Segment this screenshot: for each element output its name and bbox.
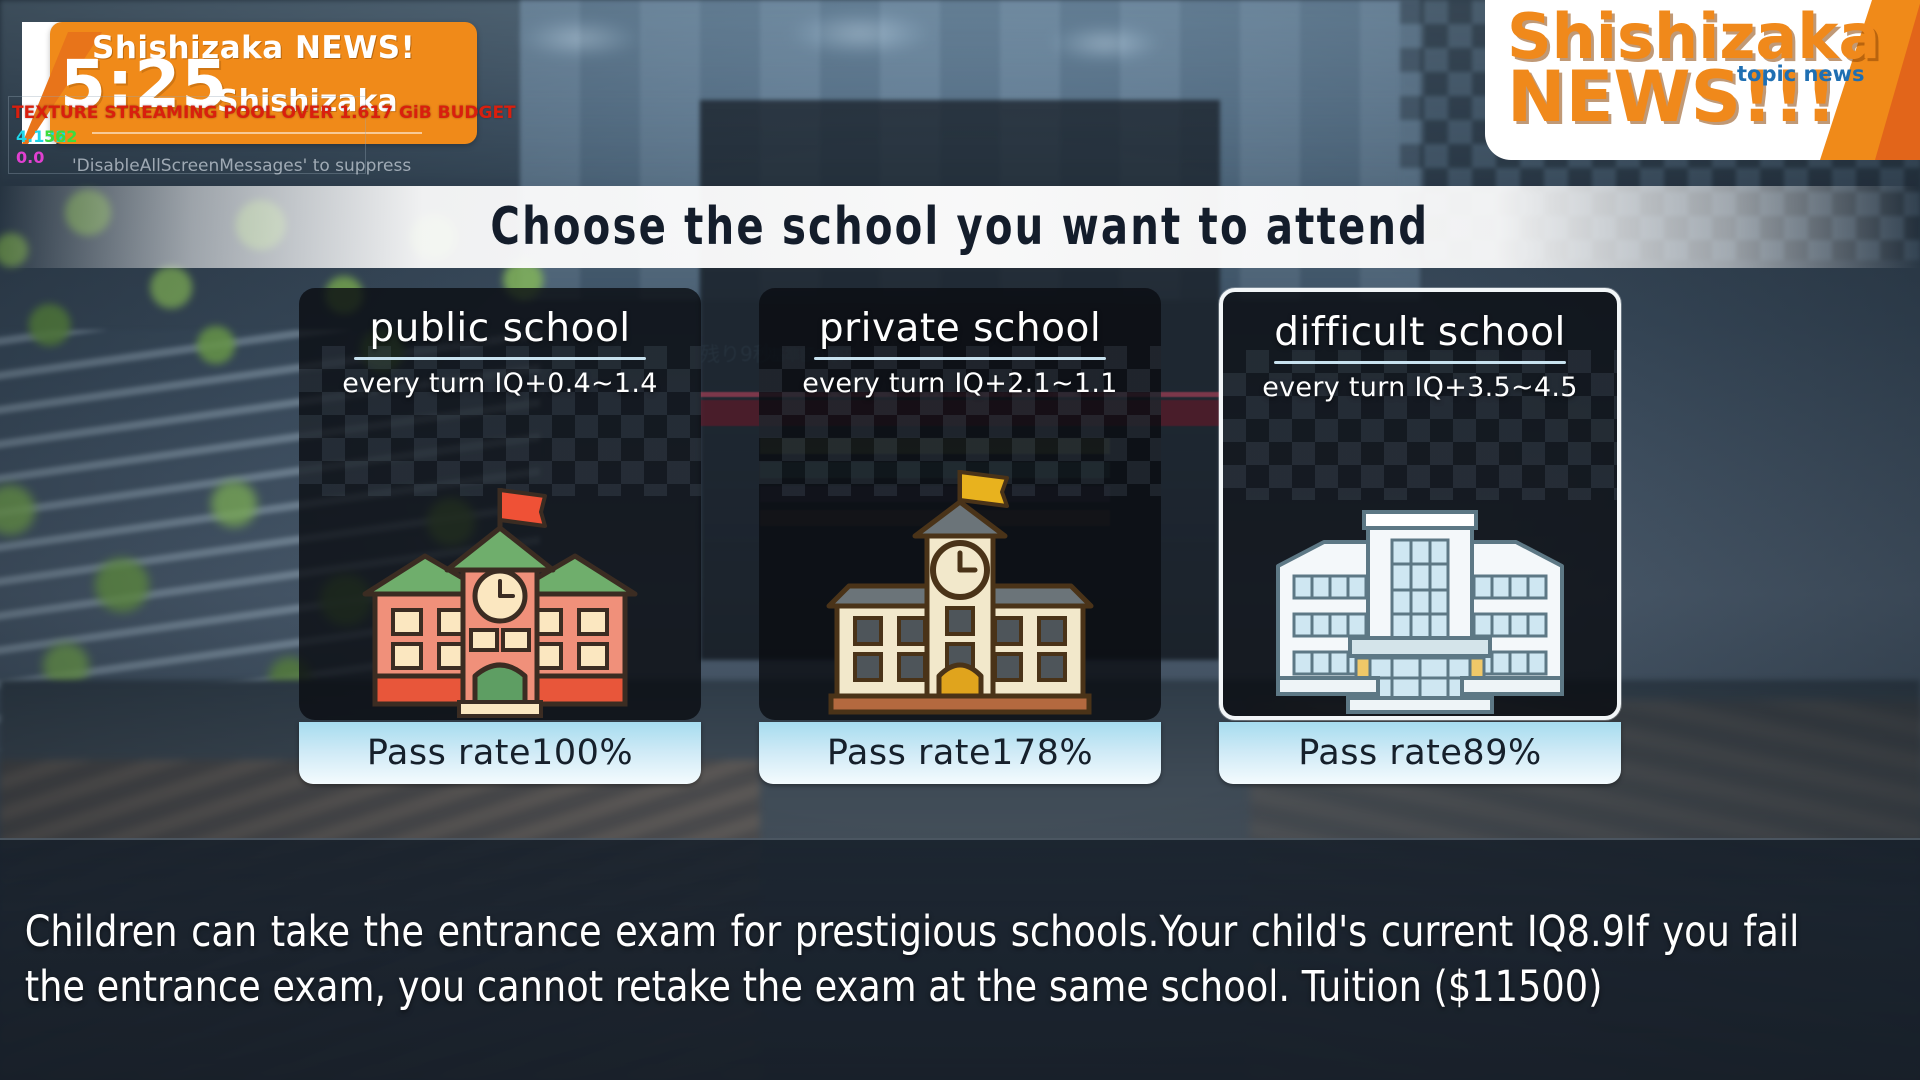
- school-card-effect: every turn IQ+2.1~1.1: [759, 368, 1161, 399]
- school-card-title: public school: [299, 306, 701, 351]
- school-pass-rate-footer: Pass rate178%: [759, 722, 1161, 784]
- page-title: Choose the school you want to attend: [491, 197, 1430, 257]
- school-classic-cream-icon: [759, 452, 1161, 720]
- school-pass-rate-label: Pass rate100%: [367, 733, 633, 773]
- news-banner: Shishizaka NEWS! 5:25 Shishizaka: [22, 22, 477, 144]
- school-card-divider: [354, 357, 646, 360]
- school-card-title: difficult school: [1223, 310, 1617, 355]
- news-banner-rule: [92, 132, 422, 134]
- shishizaka-news-logo: Shishizaka NEWS!!! topic news: [1465, 0, 1920, 160]
- school-pass-rate-footer: Pass rate100%: [299, 722, 701, 784]
- school-pass-rate-footer: Pass rate89%: [1219, 722, 1621, 784]
- school-pass-rate-label: Pass rate89%: [1298, 733, 1541, 773]
- school-choice-list: public school every turn IQ+0.4~1.4: [0, 288, 1920, 788]
- school-card-effect: every turn IQ+3.5~4.5: [1223, 372, 1617, 403]
- school-card-title: private school: [759, 306, 1161, 351]
- school-card-divider: [814, 357, 1106, 360]
- school-card-private[interactable]: private school every turn IQ+2.1~1.1: [759, 288, 1161, 784]
- news-banner-subtitle: Shishizaka: [217, 84, 398, 119]
- school-classic-red-icon: [299, 452, 701, 720]
- school-card-body[interactable]: public school every turn IQ+0.4~1.4: [299, 288, 701, 720]
- school-modern-glass-icon: [1223, 448, 1617, 716]
- description-panel: Children can take the entrance exam for …: [0, 838, 1920, 1080]
- school-pass-rate-label: Pass rate178%: [827, 733, 1093, 773]
- school-card-body[interactable]: difficult school every turn IQ+3.5~4.5: [1219, 288, 1621, 720]
- school-card-effect: every turn IQ+0.4~1.4: [299, 368, 701, 399]
- page-title-banner: Choose the school you want to attend: [0, 186, 1920, 268]
- school-card-difficult[interactable]: difficult school every turn IQ+3.5~4.5: [1219, 288, 1621, 784]
- news-banner-time: 5:25: [60, 52, 228, 118]
- school-card-body[interactable]: private school every turn IQ+2.1~1.1: [759, 288, 1161, 720]
- logo-topic-label: topic news: [1737, 62, 1865, 86]
- school-card-public[interactable]: public school every turn IQ+0.4~1.4: [299, 288, 701, 784]
- description-text: Children can take the entrance exam for …: [0, 905, 1824, 1015]
- school-card-divider: [1274, 361, 1566, 364]
